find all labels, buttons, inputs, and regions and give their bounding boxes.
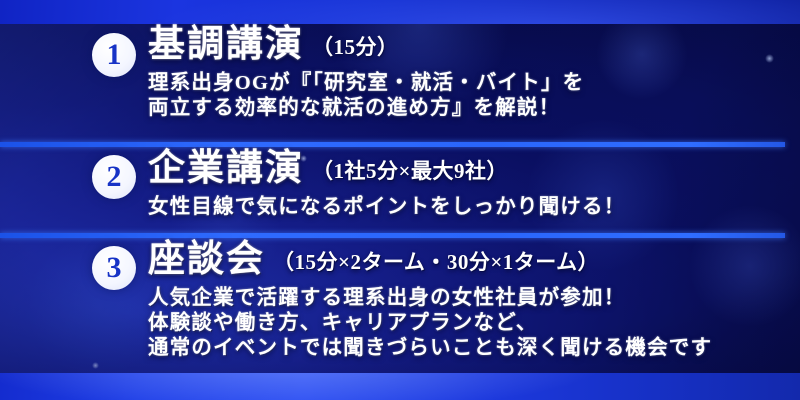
section-divider — [0, 233, 785, 238]
program-item-2-header: 2 企業講演 （1社5分×最大9社） — [0, 150, 800, 189]
program-item-3-duration: （15分×2ターム・30分×1ターム） — [273, 246, 599, 276]
program-item-2: 2 企業講演 （1社5分×最大9社） 女性目線で気になるポイントをしっかり聞ける… — [0, 150, 800, 220]
program-item-2-duration: （1社5分×最大9社） — [312, 155, 508, 185]
program-item-2-title: 企業講演 — [148, 150, 304, 189]
program-item-2-heading: 企業講演 （1社5分×最大9社） — [92, 150, 508, 189]
number-badge-1: 1 — [92, 33, 136, 77]
description-line: 両立する効率的な就活の進め方』を解説！ — [148, 96, 800, 121]
program-item-1-heading: 基調講演 （15分） — [92, 26, 399, 65]
program-item-1-duration: （15分） — [312, 31, 399, 61]
program-item-1-title: 基調講演 — [148, 26, 304, 65]
program-list: 1 基調講演 （15分） 理系出身OGが『「研究室・就活・バイト」を 両立する効… — [0, 0, 800, 400]
program-item-3-title: 座談会 — [148, 241, 265, 280]
program-item-2-description: 女性目線で気になるポイントをしっかり聞ける！ — [0, 195, 800, 220]
number-badge-2: 2 — [92, 155, 136, 199]
description-line: 女性目線で気になるポイントをしっかり聞ける！ — [148, 195, 800, 220]
number-badge-3: 3 — [92, 246, 136, 290]
description-line: 人気企業で活躍する理系出身の女性社員が参加！ — [148, 286, 800, 311]
section-divider — [0, 142, 785, 147]
program-item-3: 3 座談会 （15分×2ターム・30分×1ターム） 人気企業で活躍する理系出身の… — [0, 241, 800, 361]
description-line: 理系出身OGが『「研究室・就活・バイト」を — [148, 71, 800, 96]
program-item-3-header: 3 座談会 （15分×2ターム・30分×1ターム） — [0, 241, 800, 280]
program-item-3-heading: 座談会 （15分×2ターム・30分×1ターム） — [92, 241, 599, 280]
description-line: 体験談や働き方、キャリアプランなど、 — [148, 311, 800, 336]
description-line: 通常のイベントでは聞きづらいことも深く聞ける機会です — [148, 336, 800, 361]
program-item-1-description: 理系出身OGが『「研究室・就活・バイト」を 両立する効率的な就活の進め方』を解説… — [0, 71, 800, 121]
program-item-3-description: 人気企業で活躍する理系出身の女性社員が参加！ 体験談や働き方、キャリアプランなど… — [0, 286, 800, 361]
poster-canvas: 1 基調講演 （15分） 理系出身OGが『「研究室・就活・バイト」を 両立する効… — [0, 0, 800, 400]
program-item-1-header: 1 基調講演 （15分） — [0, 26, 800, 65]
program-item-1: 1 基調講演 （15分） 理系出身OGが『「研究室・就活・バイト」を 両立する効… — [0, 26, 800, 121]
